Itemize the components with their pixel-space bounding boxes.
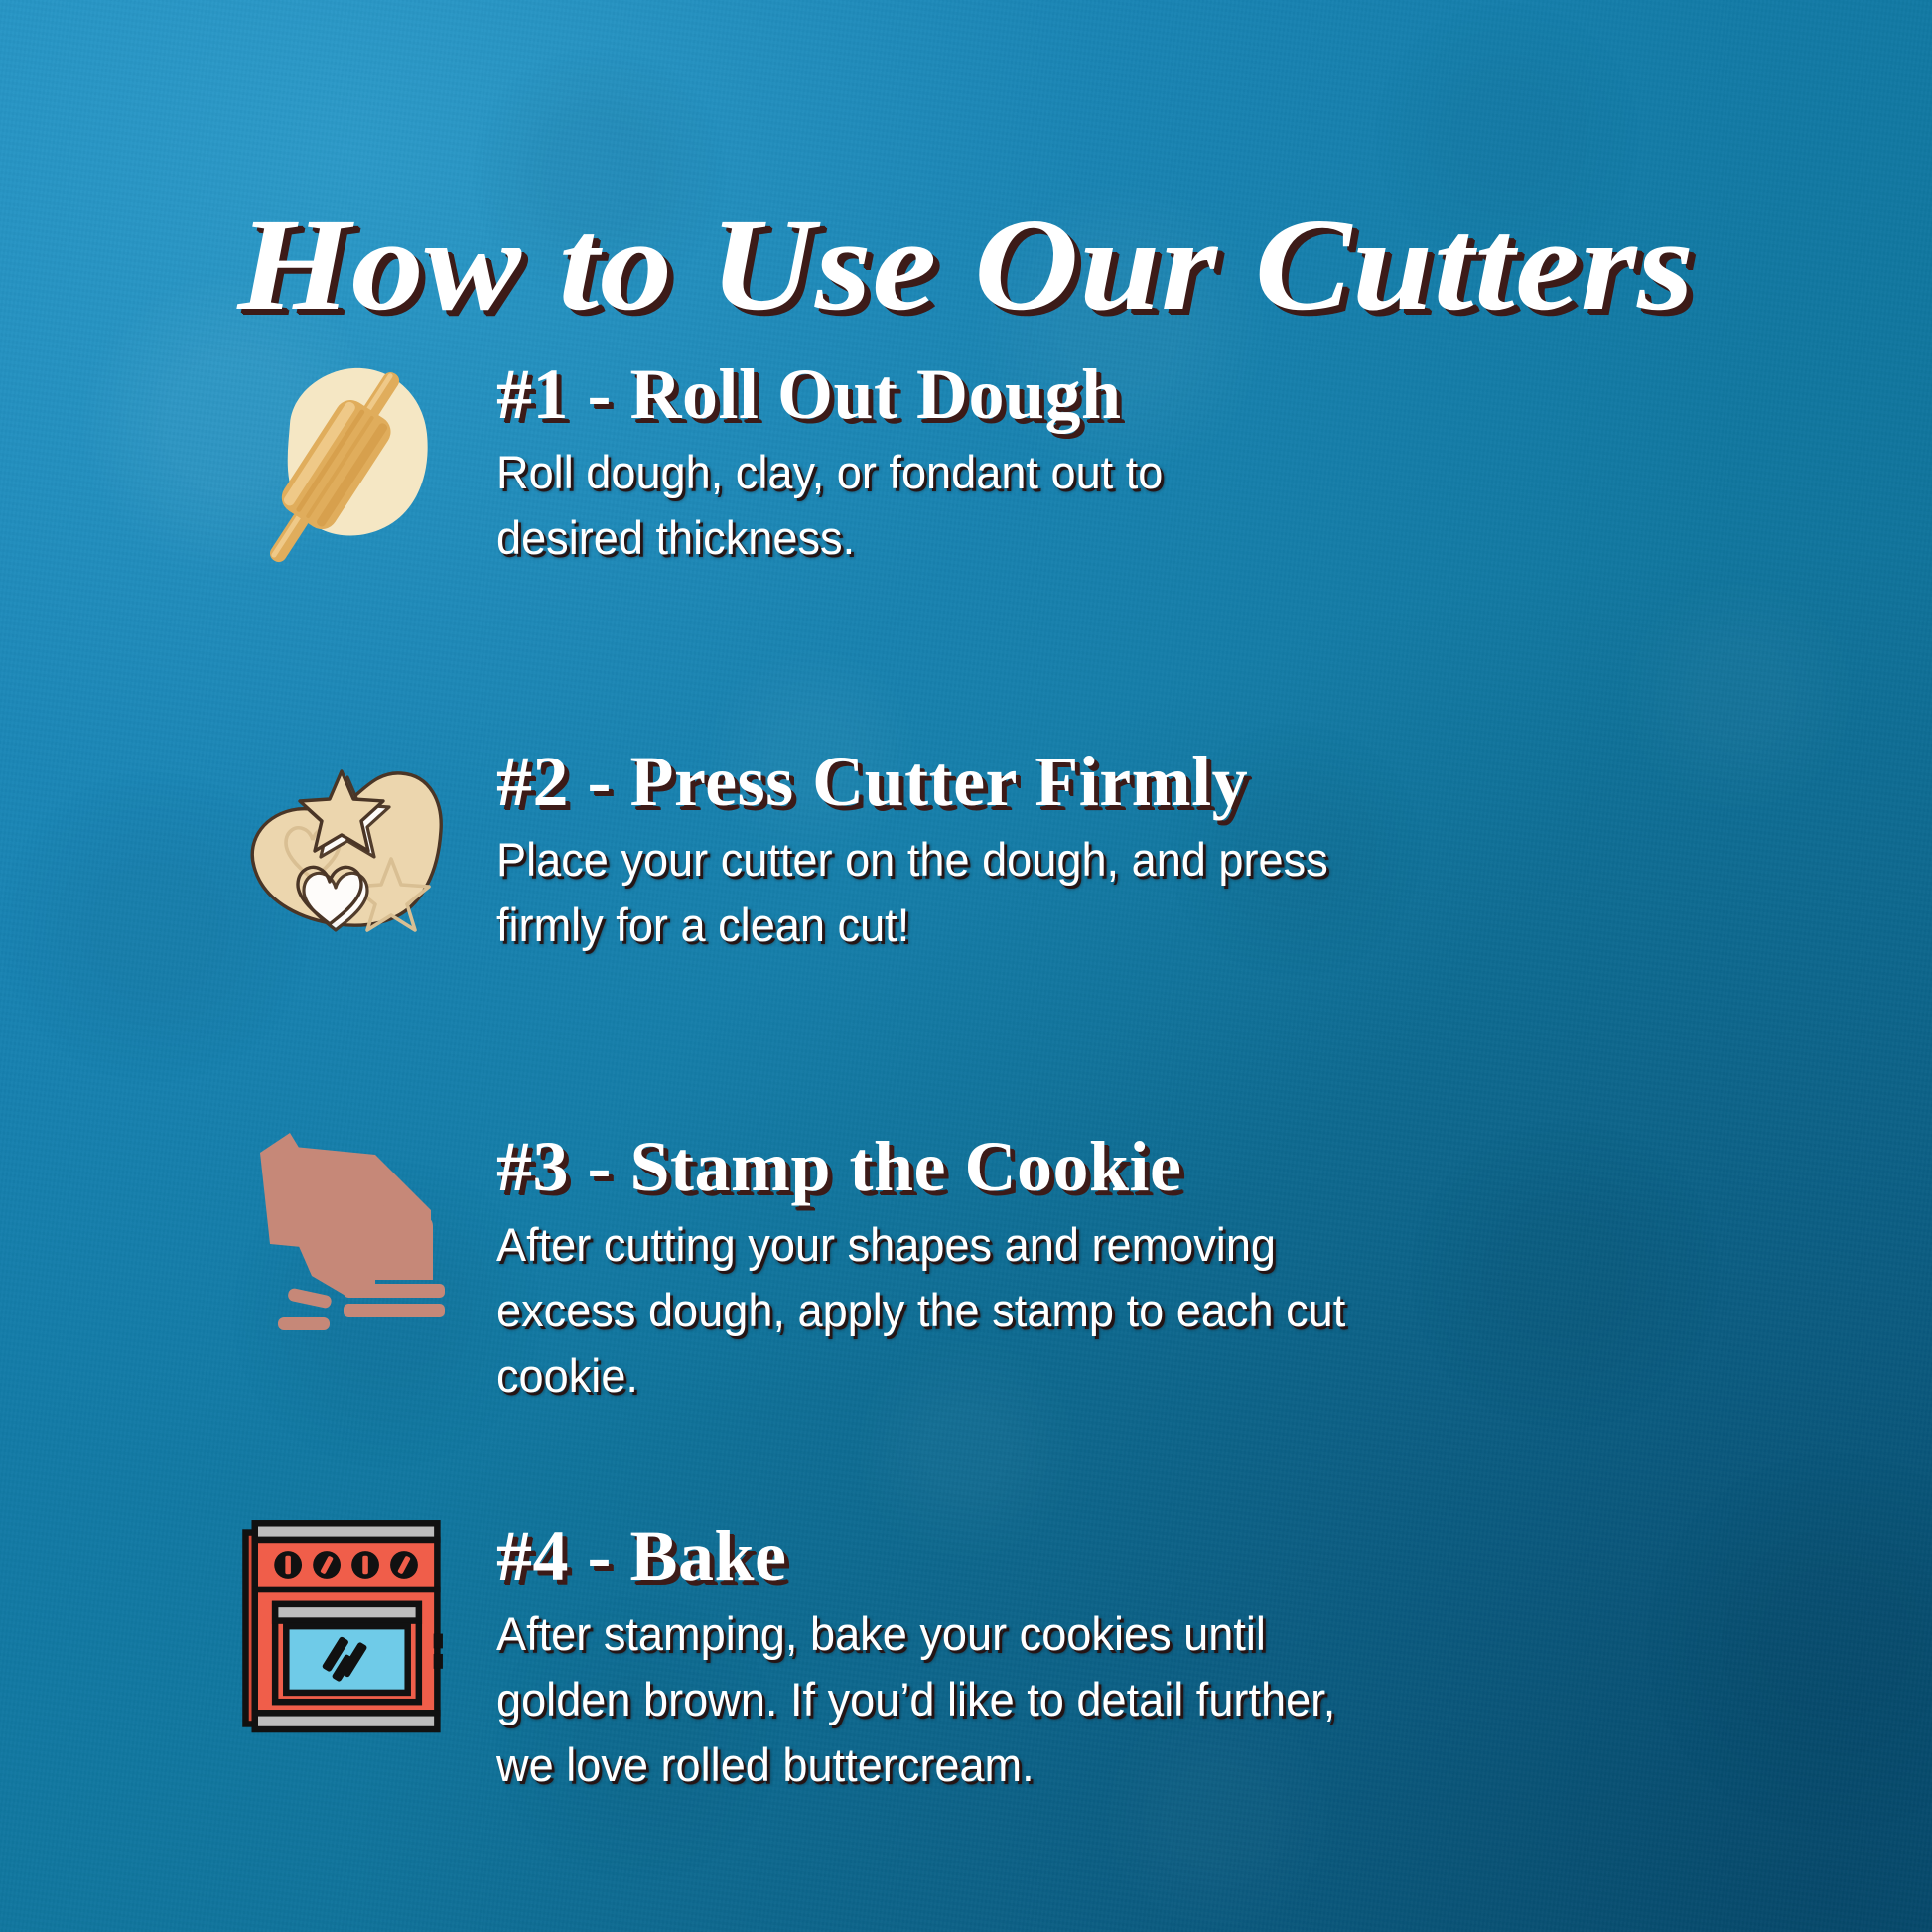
step-text-2: #2 - Press Cutter Firmly Place your cutt… [455, 740, 1676, 958]
step-body-2: Place your cutter on the dough, and pres… [496, 827, 1388, 958]
step-heading-3: #3 - Stamp the Cookie [496, 1131, 1676, 1202]
step-text-3: #3 - Stamp the Cookie After cutting your… [455, 1125, 1676, 1408]
infographic-poster: How to Use Our Cutters [0, 0, 1932, 1932]
step-item-4: #4 - Bake After stamping, bake your cook… [226, 1514, 1676, 1797]
oven-icon [226, 1514, 455, 1742]
hand-stamp-icon [226, 1125, 455, 1353]
step-heading-4: #4 - Bake [496, 1520, 1676, 1591]
rolling-pin-dough-icon [226, 352, 455, 581]
step-item-2: #2 - Press Cutter Firmly Place your cutt… [226, 740, 1676, 968]
step-item-3: #3 - Stamp the Cookie After cutting your… [226, 1125, 1676, 1408]
step-text-4: #4 - Bake After stamping, bake your cook… [455, 1514, 1676, 1797]
page-title: How to Use Our Cutters [0, 196, 1932, 335]
step-heading-2: #2 - Press Cutter Firmly [496, 746, 1676, 817]
step-body-1: Roll dough, clay, or fondant out to desi… [496, 440, 1288, 571]
step-body-4: After stamping, bake your cookies until … [496, 1601, 1359, 1797]
step-item-1: #1 - Roll Out Dough Roll dough, clay, or… [226, 352, 1676, 581]
dough-with-cookie-cutters-icon [226, 740, 455, 968]
step-text-1: #1 - Roll Out Dough Roll dough, clay, or… [455, 352, 1676, 571]
step-heading-1: #1 - Roll Out Dough [496, 358, 1676, 430]
step-body-3: After cutting your shapes and removing e… [496, 1212, 1359, 1408]
